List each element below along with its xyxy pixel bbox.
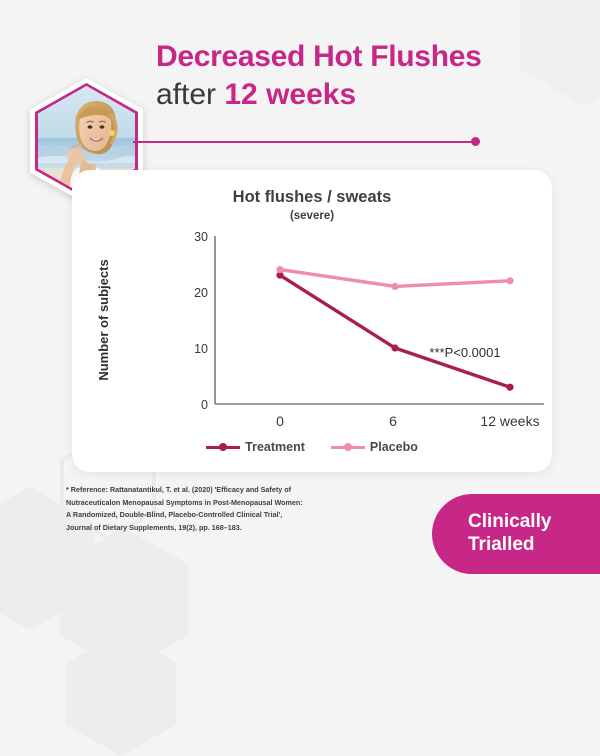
data-point bbox=[391, 283, 398, 290]
y-tick-label: 20 bbox=[194, 286, 208, 300]
legend-item-placebo: Placebo bbox=[331, 440, 418, 454]
chart-series-layer bbox=[276, 266, 513, 391]
title-line-secondary: after 12 weeks bbox=[156, 77, 576, 113]
chart-plot-area: 30 20 10 0 Number of subjects 0 6 12 wee… bbox=[72, 218, 552, 428]
title-prefix-text: after bbox=[156, 78, 224, 111]
legend-swatch-treatment bbox=[206, 442, 240, 452]
x-tick-label: 6 bbox=[389, 413, 397, 428]
title-highlight-text: 12 weeks bbox=[224, 78, 356, 111]
badge-text: Clinically Trialled bbox=[468, 511, 551, 557]
reference-line: Nutraceuticalon Menopausal Symptoms in P… bbox=[66, 497, 396, 510]
legend-label-placebo: Placebo bbox=[370, 440, 418, 454]
background-hexagon-decoration bbox=[66, 632, 176, 756]
reference-citation: * Reference: Rattanatantikul, T. et al. … bbox=[66, 484, 396, 534]
x-tick-label: 12 weeks bbox=[480, 413, 539, 428]
legend-label-treatment: Treatment bbox=[245, 440, 305, 454]
y-axis-title: Number of subjects bbox=[96, 259, 111, 380]
connector-end-dot bbox=[471, 137, 480, 146]
page-title: Decreased Hot Flushes after 12 weeks bbox=[156, 40, 576, 113]
data-point bbox=[506, 277, 513, 284]
y-tick-label: 10 bbox=[194, 342, 208, 356]
title-line-primary: Decreased Hot Flushes bbox=[156, 40, 576, 75]
chart-line-treatment bbox=[280, 275, 510, 387]
chart-legend: Treatment Placebo bbox=[72, 440, 552, 454]
badge-line-1: Clinically bbox=[468, 511, 551, 534]
significance-annotation: ***P<0.0001 bbox=[429, 345, 500, 360]
reference-line: Journal of Dietary Supplements, 19(2), p… bbox=[66, 522, 396, 535]
legend-item-treatment: Treatment bbox=[206, 440, 305, 454]
badge-line-2: Trialled bbox=[468, 534, 551, 557]
legend-swatch-placebo bbox=[331, 442, 365, 452]
clinically-trialled-badge: Clinically Trialled bbox=[432, 494, 600, 574]
y-tick-label: 30 bbox=[194, 230, 208, 244]
chart-title: Hot flushes / sweats bbox=[72, 188, 552, 207]
data-point bbox=[506, 384, 513, 391]
y-tick-label: 0 bbox=[201, 398, 208, 412]
x-tick-label: 0 bbox=[276, 413, 284, 428]
line-chart-svg: 30 20 10 0 Number of subjects 0 6 12 wee… bbox=[72, 218, 552, 428]
connector-line bbox=[133, 141, 475, 143]
data-point bbox=[276, 266, 283, 273]
chart-card: Hot flushes / sweats (severe) 30 20 10 0… bbox=[72, 170, 552, 472]
reference-line: A Randomized, Double-Blind, Placebo-Cont… bbox=[66, 509, 396, 522]
data-point bbox=[391, 344, 398, 351]
reference-line: * Reference: Rattanatantikul, T. et al. … bbox=[66, 484, 396, 497]
